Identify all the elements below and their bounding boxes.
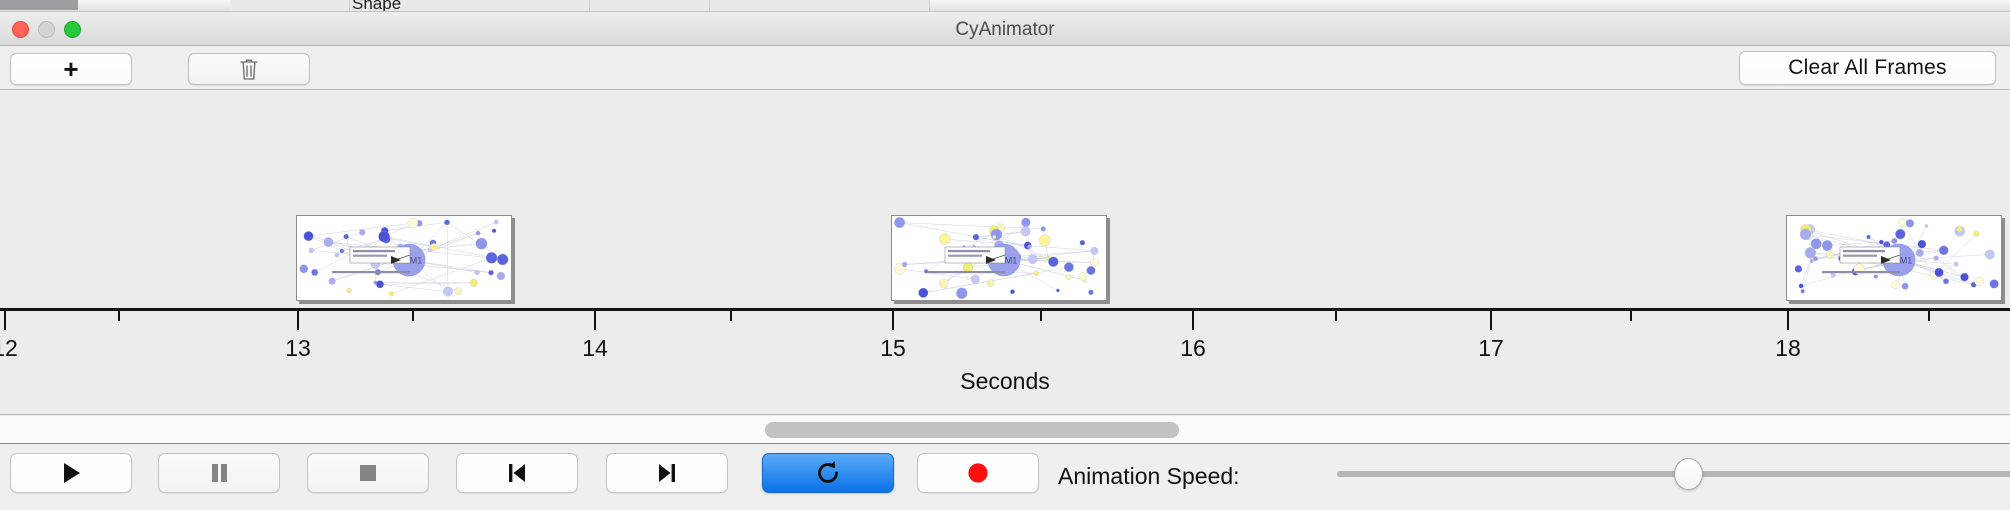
timeline-axis — [0, 308, 2010, 311]
axis-tick — [1335, 311, 1337, 321]
axis-tick — [118, 311, 120, 321]
loop-icon — [814, 459, 842, 487]
horizontal-scrollbar[interactable] — [0, 416, 2010, 444]
title-bar: CyAnimator — [0, 12, 2010, 46]
cyanimator-window: Shape CyAnimator + Clear All Frames MCM1… — [0, 0, 2010, 510]
toolbar: + Clear All Frames — [0, 46, 2010, 90]
axis-tick-label: 14 — [582, 335, 608, 362]
record-button[interactable] — [917, 453, 1039, 493]
play-button[interactable] — [10, 453, 132, 493]
axis-tick-label: 12 — [0, 335, 18, 362]
axis-tick — [1787, 311, 1789, 330]
axis-tick — [594, 311, 596, 330]
playback-controls: Animation Speed: — [0, 445, 2010, 510]
axis-tick — [4, 311, 6, 330]
axis-tick-label: 16 — [1180, 335, 1206, 362]
clear-all-frames-label: Clear All Frames — [1788, 56, 1946, 80]
axis-tick-label: 15 — [880, 335, 906, 362]
play-icon — [58, 460, 84, 486]
axis-tick — [1192, 311, 1194, 330]
delete-frame-button[interactable] — [188, 53, 310, 85]
pause-button — [158, 453, 280, 493]
timeline-frame[interactable]: MCM1 — [296, 215, 512, 301]
stop-icon — [355, 460, 381, 486]
axis-tick-label: 18 — [1775, 335, 1801, 362]
animation-speed-slider-thumb[interactable] — [1674, 458, 1703, 490]
page-title: CyAnimator — [0, 19, 2010, 41]
scrollbar-thumb[interactable] — [765, 422, 1179, 438]
axis-tick-label: 17 — [1478, 335, 1504, 362]
timeline-frame[interactable]: MCM1 — [1786, 215, 2002, 301]
axis-tick — [730, 311, 732, 321]
timeline-panel[interactable]: MCM1MCM1MCM1 12131415161718 Seconds — [0, 90, 2010, 415]
background-window-segment — [230, 0, 350, 12]
skip-to-end-button[interactable] — [606, 453, 728, 493]
axis-tick — [1490, 311, 1492, 330]
axis-tick — [1928, 311, 1930, 321]
axis-tick-label: 13 — [285, 335, 311, 362]
axis-tick — [1040, 311, 1042, 321]
loop-button[interactable] — [762, 453, 894, 493]
background-window-selection — [0, 0, 78, 10]
axis-tick — [1630, 311, 1632, 321]
trash-icon — [239, 57, 259, 81]
axis-tick — [892, 311, 894, 330]
stop-button — [307, 453, 429, 493]
animation-speed-label: Animation Speed: — [1058, 463, 1240, 490]
add-frame-button[interactable]: + — [10, 53, 132, 85]
frames-track[interactable]: MCM1MCM1MCM1 — [0, 90, 2010, 308]
clear-all-frames-button[interactable]: Clear All Frames — [1739, 51, 1996, 85]
timeline-frame[interactable]: MCM1 — [891, 215, 1107, 301]
skip-back-icon — [504, 460, 530, 486]
axis-title: Seconds — [0, 368, 2010, 395]
skip-to-start-button[interactable] — [456, 453, 578, 493]
background-window-text: Shape — [352, 0, 401, 12]
background-window-segment — [710, 0, 930, 12]
pause-icon — [206, 460, 232, 486]
axis-tick — [297, 311, 299, 330]
background-window-strip: Shape — [0, 0, 2010, 12]
plus-icon: + — [63, 56, 78, 82]
skip-forward-icon — [654, 460, 680, 486]
background-window-segment — [590, 0, 710, 12]
record-icon — [965, 460, 991, 486]
animation-speed-slider[interactable] — [1337, 471, 2010, 477]
axis-tick — [412, 311, 414, 321]
